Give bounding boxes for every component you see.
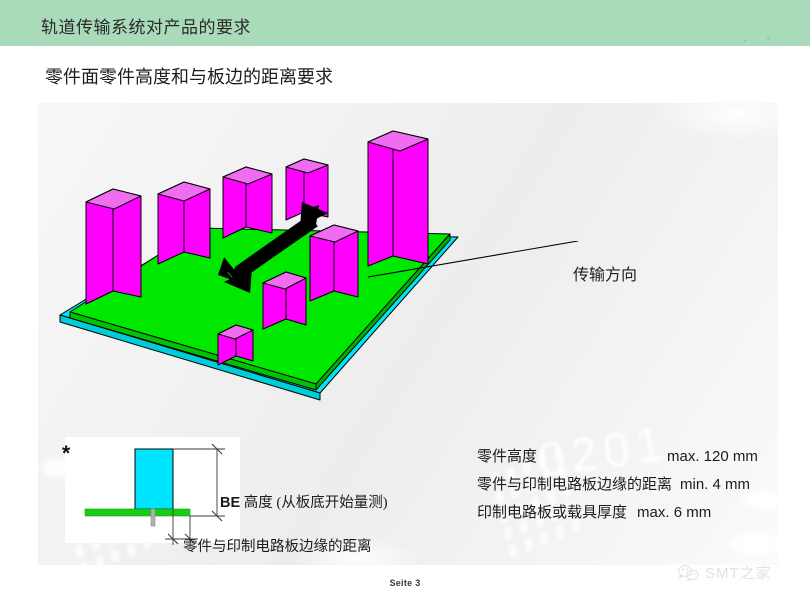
spec-row: 零件高度max. 120 mm [477, 445, 758, 466]
slide-root: 轨道传输系统对产品的要求 零件面零件高度和与板边的距离要求 0201 [0, 0, 810, 605]
wechat-brand-name: SMT之家 [705, 562, 772, 583]
component-block [86, 189, 141, 304]
component-block [158, 182, 210, 264]
wechat-icon [678, 564, 700, 582]
spec-label: 印制电路板或载具厚度 [477, 501, 637, 522]
background-blob [728, 533, 778, 555]
header-band: 轨道传输系统对产品的要求 [0, 0, 810, 46]
header-speck-icon [743, 39, 746, 42]
section-board [85, 509, 190, 516]
spec-row: 印制电路板或载具厚度max. 6 mm [477, 501, 758, 522]
component-block [223, 167, 272, 238]
spec-value: min. 4 mm [680, 476, 750, 493]
spec-row: 零件与印制电路板边缘的距离min. 4 mm [477, 473, 758, 494]
pcb-isometric-figure [38, 103, 478, 441]
wechat-brand-watermark: SMT之家 [678, 562, 772, 583]
transport-direction-label: 传输方向 [573, 261, 637, 285]
spec-value: max. 6 mm [637, 504, 711, 521]
be-height-rest: 高度 (从板底开始量测) [240, 495, 387, 511]
spec-label: 零件与印制电路板边缘的距离 [477, 473, 680, 494]
content-photo-panel: 0201 [38, 103, 778, 565]
edge-distance-label: 零件与印制电路板边缘的距离 [183, 535, 372, 556]
specification-list: 零件高度max. 120 mm 零件与印制电路板边缘的距离min. 4 mm 印… [477, 445, 758, 529]
slide-subtitle: 零件面零件高度和与板边的距离要求 [45, 63, 333, 89]
spec-value: max. 120 mm [667, 448, 758, 465]
be-height-label: BE 高度 (从板底开始量测) [220, 491, 388, 512]
be-height-prefix: BE [220, 495, 240, 511]
header-speck-icon [767, 37, 770, 40]
spec-label: 零件高度 [477, 445, 667, 466]
section-component-body [135, 449, 173, 509]
component-block [310, 225, 358, 301]
page-title: 轨道传输系统对产品的要求 [41, 13, 251, 38]
section-lead [151, 509, 155, 526]
component-block [368, 131, 428, 266]
